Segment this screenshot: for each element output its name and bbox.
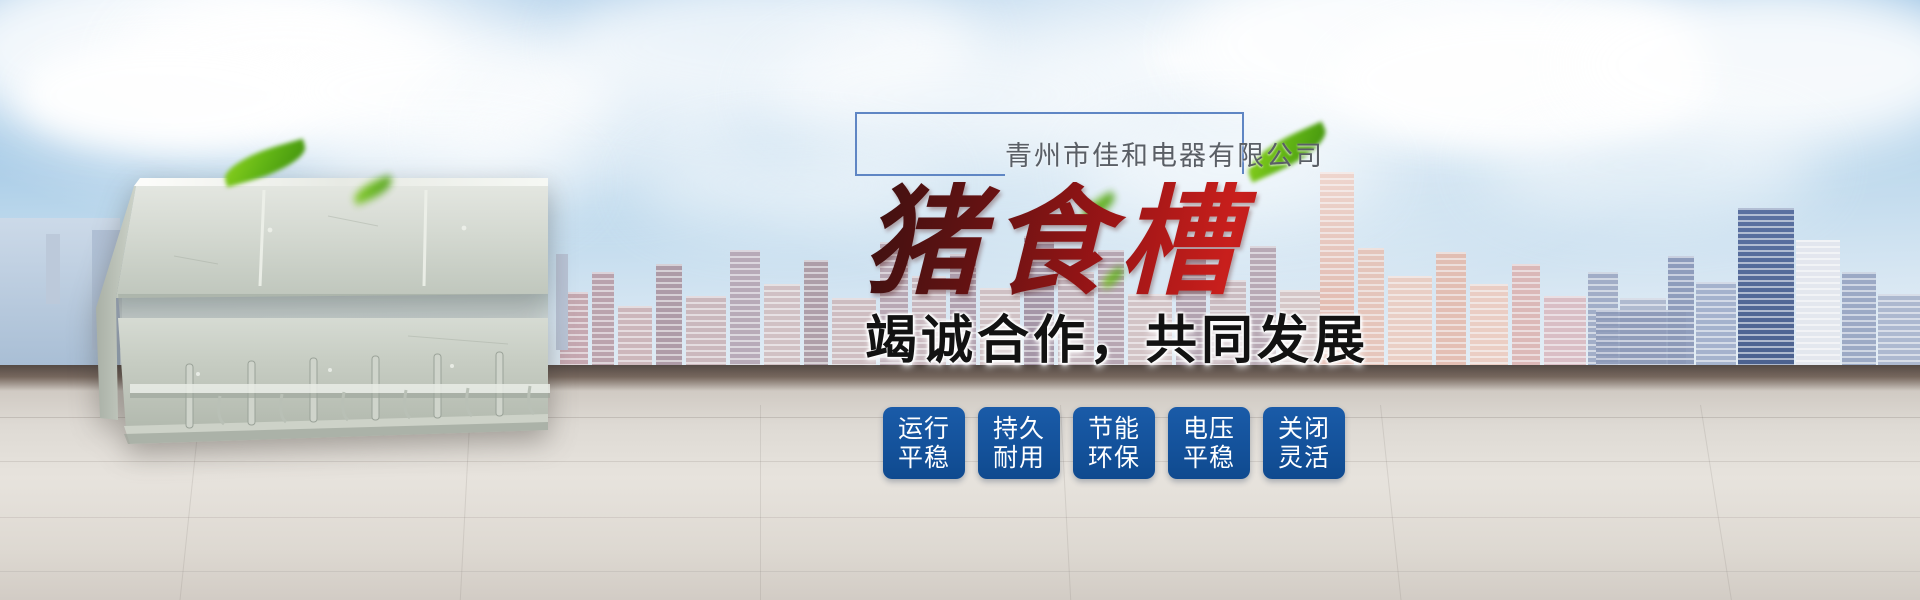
- tower-building: [1796, 240, 1840, 368]
- building: [1544, 296, 1586, 368]
- building: [730, 250, 760, 368]
- feature-tag-line1: 电压: [1183, 414, 1235, 444]
- building: [686, 296, 726, 368]
- feature-tag-line1: 运行: [898, 414, 950, 444]
- feature-tag-line1: 关闭: [1278, 414, 1330, 444]
- banner-text-block: 青州市佳和电器有限公司 猪食槽 竭诚合作，共同发展 运行 平稳 持久 耐用 节能…: [855, 112, 1475, 479]
- building: [764, 284, 800, 368]
- feature-tag-line2: 平稳: [898, 443, 950, 473]
- building: [804, 260, 828, 368]
- building: [1470, 284, 1508, 368]
- pavement-line: [0, 517, 1920, 518]
- building: [656, 264, 682, 368]
- company-name-frame: 青州市佳和电器有限公司: [855, 112, 1244, 174]
- tower-building: [1738, 208, 1794, 368]
- page-title: 猪食槽: [855, 182, 1475, 302]
- pavement-line: [760, 405, 761, 600]
- feature-tag[interactable]: 持久 耐用: [978, 407, 1060, 479]
- building: [618, 306, 652, 368]
- feature-tag[interactable]: 关闭 灵活: [1263, 407, 1345, 479]
- feature-tag-line2: 耐用: [993, 443, 1045, 473]
- building: [1596, 310, 1686, 368]
- feature-tag-line1: 节能: [1088, 414, 1140, 444]
- feature-tag-line1: 持久: [993, 414, 1045, 444]
- building: [46, 234, 60, 304]
- product-image-pig-feeding-trough: [78, 168, 558, 458]
- feature-tag[interactable]: 电压 平稳: [1168, 407, 1250, 479]
- building: [1696, 282, 1736, 368]
- promo-banner: 青州市佳和电器有限公司 猪食槽 竭诚合作，共同发展 运行 平稳 持久 耐用 节能…: [0, 0, 1920, 600]
- building: [1842, 272, 1876, 368]
- pavement-line: [0, 571, 1920, 572]
- building: [592, 272, 614, 368]
- feature-tag[interactable]: 运行 平稳: [883, 407, 965, 479]
- feature-tag-list: 运行 平稳 持久 耐用 节能 环保 电压 平稳 关闭 灵活: [855, 407, 1475, 479]
- feature-tag-line2: 环保: [1088, 443, 1140, 473]
- feature-tag-line2: 平稳: [1183, 443, 1235, 473]
- company-name: 青州市佳和电器有限公司: [1005, 134, 1324, 173]
- building: [1878, 294, 1920, 368]
- building: [1512, 264, 1540, 368]
- feature-tag-line2: 灵活: [1278, 443, 1330, 473]
- feature-tag[interactable]: 节能 环保: [1073, 407, 1155, 479]
